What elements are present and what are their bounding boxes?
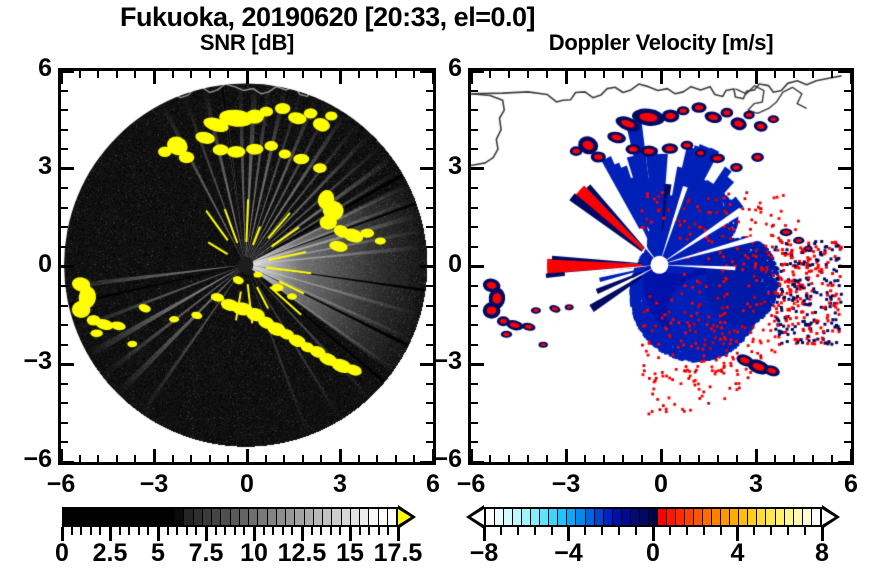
colorbar-swatch bbox=[739, 509, 748, 525]
colorbar-minor-tick bbox=[635, 527, 637, 535]
colorbar-swatch bbox=[101, 509, 110, 525]
colorbar-minor-tick bbox=[753, 527, 755, 535]
colorbar-swatch bbox=[92, 509, 101, 525]
colorbar-swatch bbox=[504, 509, 513, 525]
colorbar-minor-tick bbox=[378, 527, 380, 535]
colorbar-swatch bbox=[558, 509, 567, 525]
y-tick-label: 6 bbox=[6, 54, 52, 83]
colorbar-swatch bbox=[730, 509, 739, 525]
colorbar-swatch bbox=[703, 509, 712, 525]
x-tick-label: 0 bbox=[631, 470, 691, 499]
colorbar-minor-tick bbox=[176, 527, 178, 535]
colorbar-minor-tick bbox=[243, 527, 245, 535]
colorbar-swatch bbox=[622, 509, 631, 525]
colorbar-swatch bbox=[748, 509, 757, 525]
colorbar-swatch bbox=[360, 509, 369, 525]
doppler-radar-image bbox=[471, 71, 851, 462]
colorbar-minor-tick bbox=[311, 527, 313, 535]
colorbar-swatch bbox=[766, 509, 775, 525]
colorbar-swatch bbox=[157, 509, 166, 525]
x-tick-label: 6 bbox=[821, 470, 870, 499]
colorbar-minor-tick bbox=[71, 527, 73, 535]
colorbar-swatch bbox=[221, 509, 230, 525]
colorbar-swatch bbox=[649, 509, 658, 525]
colorbar-tick-label: 0 bbox=[608, 539, 698, 568]
x-tick-label: 3 bbox=[726, 470, 786, 499]
colorbar-swatch bbox=[685, 509, 694, 525]
colorbar-minor-tick bbox=[167, 527, 169, 535]
colorbar-minor-tick bbox=[215, 527, 217, 535]
colorbar-swatch bbox=[694, 509, 703, 525]
colorbar-minor-tick bbox=[291, 527, 293, 535]
colorbar-swatch bbox=[379, 509, 388, 525]
colorbar-swatch bbox=[721, 509, 730, 525]
colorbar-minor-tick bbox=[517, 527, 519, 535]
doppler-panel-title: Doppler Velocity [m/s] bbox=[468, 30, 854, 56]
snr-panel-title: SNR [dB] bbox=[58, 30, 436, 56]
y-tick-label: 3 bbox=[416, 152, 462, 181]
colorbar-minor-tick bbox=[669, 527, 671, 535]
colorbar-swatch bbox=[388, 509, 396, 525]
y-tick-label: 6 bbox=[416, 54, 462, 83]
doppler-colorbar[interactable] bbox=[484, 507, 822, 527]
colorbar-tick-label: −8 bbox=[439, 539, 529, 568]
colorbar-swatch bbox=[613, 509, 622, 525]
y-tick-label: −3 bbox=[6, 347, 52, 376]
colorbar-swatch bbox=[166, 509, 175, 525]
colorbar-swatch bbox=[531, 509, 540, 525]
colorbar-swatch bbox=[64, 509, 73, 525]
colorbar-swatch bbox=[522, 509, 531, 525]
colorbar-swatch bbox=[249, 509, 258, 525]
y-tick-label: 0 bbox=[6, 250, 52, 279]
y-tick-label: 0 bbox=[416, 250, 462, 279]
x-tick-label: 0 bbox=[217, 470, 277, 499]
colorbar-swatch bbox=[567, 509, 576, 525]
doppler-colorbar-over-arrow-fill bbox=[822, 509, 835, 525]
colorbar-minor-tick bbox=[500, 527, 502, 535]
colorbar-minor-tick bbox=[224, 527, 226, 535]
colorbar-minor-tick bbox=[387, 527, 389, 535]
y-tick-label: 3 bbox=[6, 152, 52, 181]
colorbar-tick-label: 8 bbox=[777, 539, 867, 568]
colorbar-swatch bbox=[712, 509, 721, 525]
colorbar-minor-tick bbox=[330, 527, 332, 535]
x-tick-label: −6 bbox=[441, 470, 501, 499]
colorbar-swatch bbox=[147, 509, 156, 525]
x-tick-label: −3 bbox=[536, 470, 596, 499]
x-tick-label: 3 bbox=[310, 470, 370, 499]
colorbar-tick-label: −4 bbox=[524, 539, 614, 568]
doppler-colorbar-under-arrow-fill bbox=[471, 509, 484, 525]
colorbar-minor-tick bbox=[601, 527, 603, 535]
colorbar-swatch bbox=[175, 509, 184, 525]
colorbar-swatch bbox=[351, 509, 360, 525]
colorbar-swatch bbox=[332, 509, 341, 525]
colorbar-swatch bbox=[369, 509, 378, 525]
colorbar-swatch bbox=[803, 509, 812, 525]
colorbar-swatch bbox=[323, 509, 332, 525]
colorbar-swatch bbox=[240, 509, 249, 525]
colorbar-swatch bbox=[785, 509, 794, 525]
colorbar-swatch bbox=[231, 509, 240, 525]
colorbar-swatch bbox=[258, 509, 267, 525]
colorbar-swatch bbox=[812, 509, 820, 525]
colorbar-swatch bbox=[83, 509, 92, 525]
colorbar-swatch bbox=[757, 509, 766, 525]
x-tick-label: −3 bbox=[124, 470, 184, 499]
colorbar-minor-tick bbox=[195, 527, 197, 535]
colorbar-swatch bbox=[212, 509, 221, 525]
colorbar-minor-tick bbox=[720, 527, 722, 535]
colorbar-minor-tick bbox=[186, 527, 188, 535]
colorbar-minor-tick bbox=[119, 527, 121, 535]
colorbar-swatch bbox=[576, 509, 585, 525]
colorbar-minor-tick bbox=[804, 527, 806, 535]
colorbar-minor-tick bbox=[339, 527, 341, 535]
colorbar-swatch bbox=[73, 509, 82, 525]
x-tick-label: −6 bbox=[31, 470, 91, 499]
colorbar-swatch bbox=[631, 509, 640, 525]
colorbar-minor-tick bbox=[234, 527, 236, 535]
colorbar-swatch bbox=[513, 509, 522, 525]
colorbar-swatch bbox=[138, 509, 147, 525]
colorbar-tick-label: 4 bbox=[693, 539, 783, 568]
colorbar-minor-tick bbox=[359, 527, 361, 535]
colorbar-minor-tick bbox=[147, 527, 149, 535]
doppler-plot-area[interactable] bbox=[468, 68, 854, 465]
colorbar-swatch bbox=[595, 509, 604, 525]
colorbar-swatch bbox=[305, 509, 314, 525]
colorbar-minor-tick bbox=[282, 527, 284, 535]
colorbar-minor-tick bbox=[703, 527, 705, 535]
y-tick-label: −3 bbox=[416, 347, 462, 376]
colorbar-swatch bbox=[604, 509, 613, 525]
colorbar-swatch bbox=[495, 509, 504, 525]
colorbar-swatch bbox=[658, 509, 667, 525]
colorbar-minor-tick bbox=[263, 527, 265, 535]
page-title: Fukuoka, 20190620 [20:33, el=0.0] bbox=[0, 2, 655, 33]
colorbar-minor-tick bbox=[787, 527, 789, 535]
snr-plot-area[interactable] bbox=[58, 68, 436, 465]
colorbar-swatch bbox=[120, 509, 129, 525]
colorbar-minor-tick bbox=[534, 527, 536, 535]
colorbar-minor-tick bbox=[99, 527, 101, 535]
colorbar-minor-tick bbox=[320, 527, 322, 535]
colorbar-swatch bbox=[776, 509, 785, 525]
colorbar-swatch bbox=[184, 509, 193, 525]
colorbar-minor-tick bbox=[551, 527, 553, 535]
colorbar-minor-tick bbox=[770, 527, 772, 535]
colorbar-minor-tick bbox=[128, 527, 130, 535]
colorbar-swatch bbox=[794, 509, 803, 525]
snr-colorbar-over-arrow-fill bbox=[398, 509, 411, 525]
colorbar-swatch bbox=[203, 509, 212, 525]
colorbar-swatch bbox=[676, 509, 685, 525]
colorbar-tick-label: 17.5 bbox=[353, 539, 443, 568]
colorbar-swatch bbox=[667, 509, 676, 525]
colorbar-minor-tick bbox=[368, 527, 370, 535]
snr-colorbar[interactable] bbox=[62, 507, 398, 527]
colorbar-minor-tick bbox=[686, 527, 688, 535]
colorbar-swatch bbox=[640, 509, 649, 525]
colorbar-swatch bbox=[314, 509, 323, 525]
snr-radar-image bbox=[61, 71, 433, 462]
colorbar-swatch bbox=[486, 509, 495, 525]
colorbar-swatch bbox=[549, 509, 558, 525]
colorbar-minor-tick bbox=[618, 527, 620, 535]
colorbar-swatch bbox=[295, 509, 304, 525]
colorbar-minor-tick bbox=[272, 527, 274, 535]
colorbar-swatch bbox=[129, 509, 138, 525]
colorbar-minor-tick bbox=[90, 527, 92, 535]
colorbar-swatch bbox=[110, 509, 119, 525]
colorbar-swatch bbox=[586, 509, 595, 525]
colorbar-minor-tick bbox=[584, 527, 586, 535]
colorbar-minor-tick bbox=[80, 527, 82, 535]
colorbar-swatch bbox=[286, 509, 295, 525]
colorbar-swatch bbox=[268, 509, 277, 525]
colorbar-swatch bbox=[540, 509, 549, 525]
colorbar-swatch bbox=[194, 509, 203, 525]
colorbar-swatch bbox=[342, 509, 351, 525]
colorbar-minor-tick bbox=[138, 527, 140, 535]
colorbar-swatch bbox=[277, 509, 286, 525]
